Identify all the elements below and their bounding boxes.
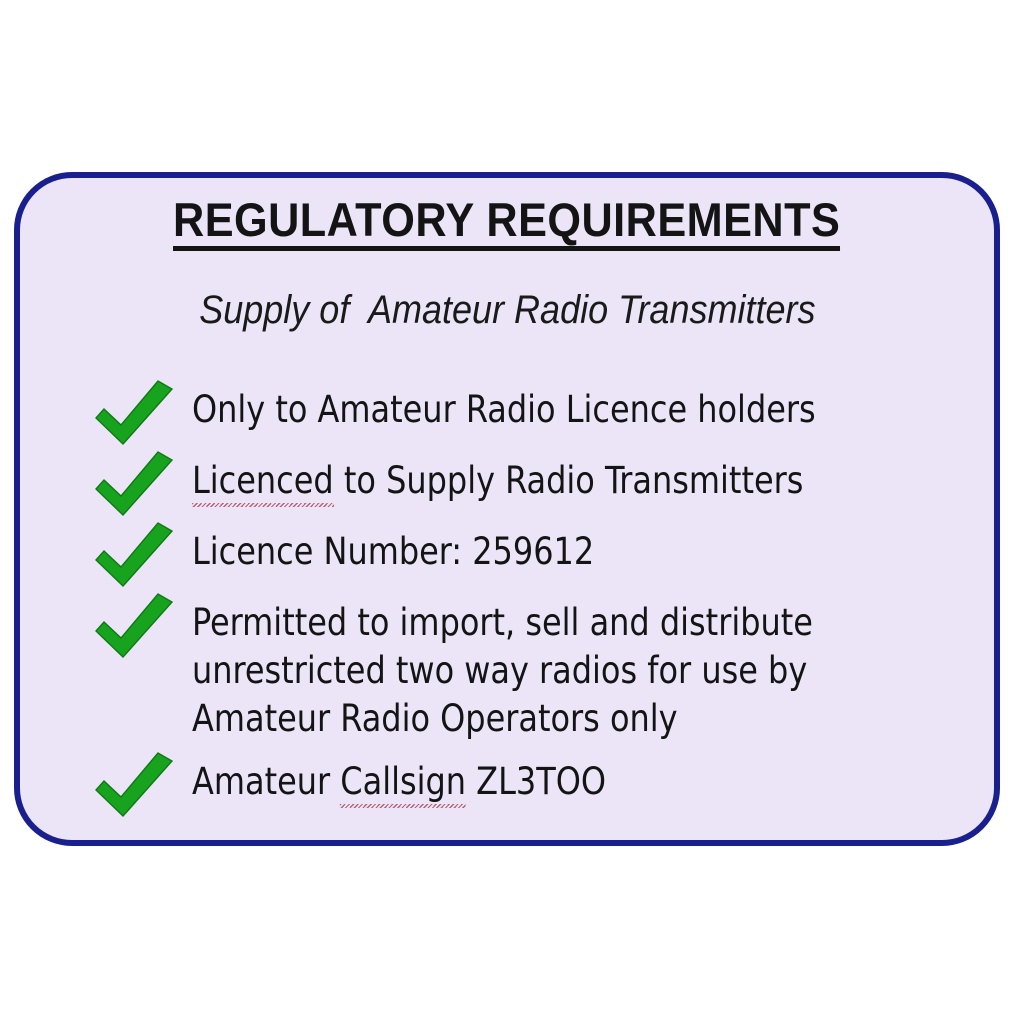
list-item-line: Amateur Radio Operators only xyxy=(192,695,924,743)
list-item-line: Permitted to import, sell and distribute xyxy=(192,599,924,647)
list-item-text: Amateur Callsign ZL3TOO xyxy=(192,756,924,806)
list-item-text: Permitted to import, sell and distribute… xyxy=(192,597,924,743)
list-item-line: Licence Number: 259612 xyxy=(192,528,924,576)
page-title: REGULATORY REQUIREMENTS xyxy=(20,196,994,251)
green-check-icon xyxy=(80,522,192,584)
regulatory-requirements-card: REGULATORY REQUIREMENTS Supply of Amateu… xyxy=(14,172,1000,846)
list-item-line-rest: to Supply Radio Transmitters xyxy=(334,459,804,502)
list-item-text: Licence Number: 259612 xyxy=(192,526,924,576)
page-title-text: REGULATORY REQUIREMENTS xyxy=(173,196,840,251)
requirements-list: Only to Amateur Radio Licence holders Li… xyxy=(80,384,954,827)
list-item: Permitted to import, sell and distribute… xyxy=(80,597,954,743)
green-check-icon xyxy=(80,380,192,442)
list-item: Licence Number: 259612 xyxy=(80,526,954,584)
misspelled-word: Callsign xyxy=(340,758,466,806)
list-item-text: Licenced to Supply Radio Transmitters xyxy=(192,455,924,505)
list-item-text: Only to Amateur Radio Licence holders xyxy=(192,384,924,434)
list-item: Amateur Callsign ZL3TOO xyxy=(80,756,954,814)
list-item-line: Amateur Callsign ZL3TOO xyxy=(192,758,924,806)
list-item-line: Licenced to Supply Radio Transmitters xyxy=(192,457,924,505)
list-item-line-prefix: Amateur xyxy=(192,760,340,803)
list-item-line: unrestricted two way radios for use by xyxy=(192,647,924,695)
page-canvas: REGULATORY REQUIREMENTS Supply of Amateu… xyxy=(0,0,1024,1024)
green-check-icon xyxy=(80,451,192,513)
green-check-icon xyxy=(80,752,192,814)
green-check-icon xyxy=(80,593,192,655)
list-item-line-rest: ZL3TOO xyxy=(466,760,606,803)
misspelled-word: Licenced xyxy=(192,457,334,505)
list-item-line: Only to Amateur Radio Licence holders xyxy=(192,386,924,434)
list-item: Licenced to Supply Radio Transmitters xyxy=(80,455,954,513)
card-subtitle-text: Supply of Amateur Radio Transmitters xyxy=(199,290,815,330)
card-subtitle: Supply of Amateur Radio Transmitters xyxy=(20,290,994,330)
list-item: Only to Amateur Radio Licence holders xyxy=(80,384,954,442)
